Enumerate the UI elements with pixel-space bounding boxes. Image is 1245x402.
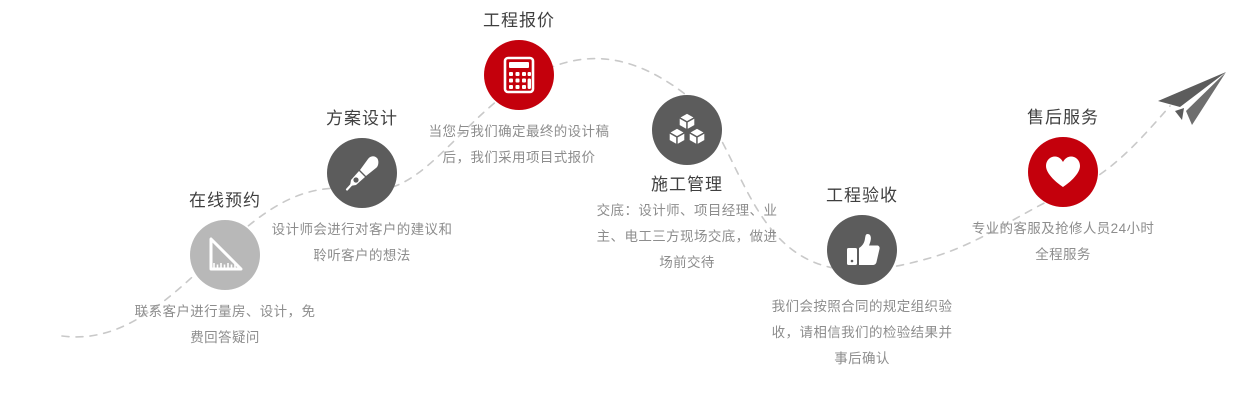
- step-desc-5: 我们会按照合同的规定组织验收，请相信我们的检验结果并事后确认: [767, 294, 957, 372]
- flow-step-5[interactable]: 工程验收 我们会按照合同的规定组织验收，请相信我们的检验结果并事后确认: [767, 185, 957, 372]
- heart-icon: [1028, 137, 1098, 207]
- paper-plane-icon: [1152, 70, 1230, 133]
- step-desc-2: 设计师会进行对客户的建议和聆听客户的想法: [267, 217, 457, 269]
- flow-step-6[interactable]: 售后服务 专业的客服及抢修人员24小时全程服务: [968, 107, 1158, 268]
- flow-step-3[interactable]: 工程报价 当您与我们确定最终的: [424, 10, 614, 171]
- step-title-6: 售后服务: [968, 107, 1158, 129]
- service-process-flow: 在线预约 联系客户进行量房、设计，免费回答疑问 方案设计: [0, 0, 1245, 402]
- calculator-icon: [484, 40, 554, 110]
- step-desc-1: 联系客户进行量房、设计，免费回答疑问: [130, 299, 320, 351]
- step-title-5: 工程验收: [767, 185, 957, 207]
- thumbs-up-icon: [827, 215, 897, 285]
- boxes-icon: [652, 95, 722, 165]
- step-desc-6: 专业的客服及抢修人员24小时全程服务: [968, 216, 1158, 268]
- step-desc-4: 交底：设计师、项目经理、业主、电工三方现场交底，做进场前交待: [592, 198, 782, 276]
- flow-step-4[interactable]: 施工管理 交底：设计师、项目经理、业主、电工三方现场交底，做进场前交待: [592, 95, 782, 276]
- ruler-triangle-icon: [190, 220, 260, 290]
- step-title-4: 施工管理: [592, 174, 782, 196]
- fountain-pen-icon: [327, 138, 397, 208]
- step-title-3: 工程报价: [424, 10, 614, 32]
- step-desc-3: 当您与我们确定最终的设计稿后，我们采用项目式报价: [424, 119, 614, 171]
